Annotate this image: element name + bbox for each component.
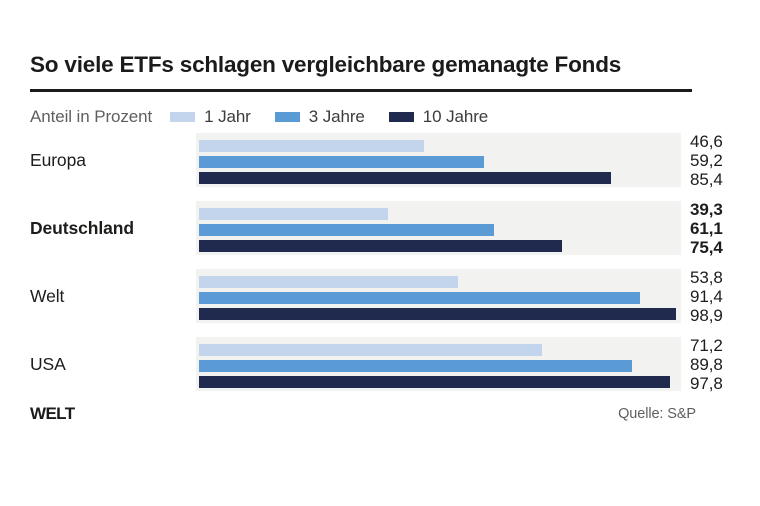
bar-group: [199, 133, 681, 187]
bar-europa-1-jahr: [199, 140, 424, 152]
bar-usa-3-jahre: [199, 360, 632, 372]
bar-group: [199, 337, 681, 391]
bar-deutschland-1-jahr: [199, 208, 388, 220]
source-note: Quelle: S&P: [618, 406, 696, 422]
bar-deutschland-3-jahre: [199, 224, 494, 236]
legend-swatch-icon-1-jahr: [170, 112, 195, 122]
value-label-usa-3-jahre: 89,8: [690, 359, 723, 371]
legend-swatch-icon-3-jahre: [275, 112, 300, 122]
value-label-group: 39,361,175,4: [690, 201, 760, 255]
bar-usa-10-jahre: [199, 376, 670, 388]
bar-europa-3-jahre: [199, 156, 484, 168]
bar-deutschland-10-jahre: [199, 240, 562, 252]
bar-group: [199, 201, 681, 255]
chart-row: USA71,289,897,8: [0, 337, 760, 391]
value-label-usa-10-jahre: 97,8: [690, 378, 723, 390]
value-label-deutschland-1-jahr: 39,3: [690, 204, 723, 216]
value-label-deutschland-3-jahre: 61,1: [690, 223, 723, 235]
chart-row: Deutschland39,361,175,4: [0, 201, 760, 255]
chart-plot-area: Europa46,659,285,4Deutschland39,361,175,…: [0, 133, 760, 405]
chart-row: Europa46,659,285,4: [0, 133, 760, 187]
legend-label-3-jahre: 3 Jahre: [309, 107, 365, 127]
value-label-group: 71,289,897,8: [690, 337, 760, 391]
chart-legend: Anteil in Prozent 1 Jahr 3 Jahre 10 Jahr…: [30, 106, 512, 128]
legend-label-1-jahr: 1 Jahr: [204, 107, 251, 127]
value-label-group: 53,891,498,9: [690, 269, 760, 323]
value-label-welt-1-jahr: 53,8: [690, 272, 723, 284]
legend-swatch-icon-10-jahre: [389, 112, 414, 122]
legend-caption: Anteil in Prozent: [30, 107, 152, 127]
bar-usa-1-jahr: [199, 344, 542, 356]
value-label-welt-10-jahre: 98,9: [690, 310, 723, 322]
value-label-europa-1-jahr: 46,6: [690, 136, 723, 148]
title-divider: [30, 89, 692, 92]
value-label-europa-10-jahre: 85,4: [690, 174, 723, 186]
value-label-deutschland-10-jahre: 75,4: [690, 242, 723, 254]
bar-europa-10-jahre: [199, 172, 611, 184]
category-label-welt: Welt: [30, 269, 64, 323]
category-label-deutschland: Deutschland: [30, 201, 134, 255]
legend-label-10-jahre: 10 Jahre: [423, 107, 488, 127]
chart-title: So viele ETFs schlagen vergleichbare gem…: [30, 52, 730, 78]
value-label-europa-3-jahre: 59,2: [690, 155, 723, 167]
value-label-group: 46,659,285,4: [690, 133, 760, 187]
value-label-usa-1-jahr: 71,2: [690, 340, 723, 352]
legend-item-3-jahre: 3 Jahre: [275, 107, 365, 127]
bar-group: [199, 269, 681, 323]
category-label-usa: USA: [30, 337, 66, 391]
category-label-europa: Europa: [30, 133, 86, 187]
bar-welt-1-jahr: [199, 276, 458, 288]
chart-row: Welt53,891,498,9: [0, 269, 760, 323]
welt-logo: WELT: [30, 404, 75, 424]
legend-item-1-jahr: 1 Jahr: [170, 107, 251, 127]
bar-welt-3-jahre: [199, 292, 640, 304]
value-label-welt-3-jahre: 91,4: [690, 291, 723, 303]
bar-welt-10-jahre: [199, 308, 676, 320]
chart-container: So viele ETFs schlagen vergleichbare gem…: [0, 0, 760, 506]
legend-item-10-jahre: 10 Jahre: [389, 107, 488, 127]
